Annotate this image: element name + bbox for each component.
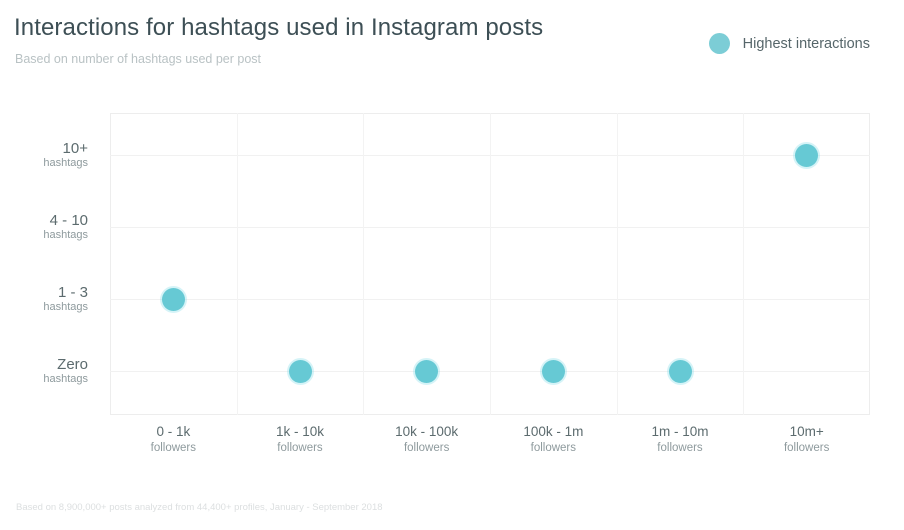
chart-legend: Highest interactions	[709, 33, 870, 54]
x-axis-tick-label: 0 - 1kfollowers	[151, 424, 196, 455]
y-axis-tick-main: Zero	[43, 356, 88, 373]
data-point-marker[interactable]	[289, 360, 312, 383]
chart-footnote: Based on 8,900,000+ posts analyzed from …	[16, 502, 383, 513]
y-axis-tick-sub: hashtags	[43, 373, 88, 386]
data-point-marker[interactable]	[162, 288, 185, 311]
x-axis-tick-sub: followers	[395, 441, 458, 455]
chart-title: Interactions for hashtags used in Instag…	[14, 14, 543, 42]
y-axis-tick-label: 10+hashtags	[43, 140, 88, 170]
x-axis-tick-main: 10k - 100k	[395, 424, 458, 441]
x-axis-tick-label: 100k - 1mfollowers	[523, 424, 583, 455]
x-axis-tick-label: 10k - 100kfollowers	[395, 424, 458, 455]
y-axis-tick-main: 10+	[43, 140, 88, 157]
y-axis-tick-main: 1 - 3	[43, 284, 88, 301]
y-axis-tick-label: Zerohashtags	[43, 356, 88, 386]
y-axis-tick-sub: hashtags	[43, 301, 88, 314]
x-axis-tick-label: 10m+followers	[784, 424, 829, 455]
x-axis: 0 - 1kfollowers1k - 10kfollowers10k - 10…	[110, 424, 870, 470]
data-point-marker[interactable]	[669, 360, 692, 383]
gridline-vertical	[237, 113, 238, 415]
legend-item-label: Highest interactions	[743, 36, 870, 52]
x-axis-tick-label: 1m - 10mfollowers	[651, 424, 708, 455]
x-axis-tick-sub: followers	[151, 441, 196, 455]
y-axis-tick-sub: hashtags	[43, 229, 88, 242]
y-axis-tick-label: 1 - 3hashtags	[43, 284, 88, 314]
x-axis-tick-sub: followers	[651, 441, 708, 455]
gridline-vertical	[363, 113, 364, 415]
x-axis-tick-main: 1m - 10m	[651, 424, 708, 441]
x-axis-tick-label: 1k - 10kfollowers	[276, 424, 324, 455]
y-axis-tick-main: 4 - 10	[43, 212, 88, 229]
gridline-vertical	[490, 113, 491, 415]
data-point-marker[interactable]	[795, 144, 818, 167]
x-axis-tick-sub: followers	[523, 441, 583, 455]
gridline-vertical	[617, 113, 618, 415]
gridline-vertical	[743, 113, 744, 415]
x-axis-tick-sub: followers	[276, 441, 324, 455]
legend-circle-icon	[709, 33, 730, 54]
chart-subtitle: Based on number of hashtags used per pos…	[15, 52, 261, 66]
x-axis-tick-sub: followers	[784, 441, 829, 455]
y-axis-tick-label: 4 - 10hashtags	[43, 212, 88, 242]
plot-area	[110, 113, 870, 415]
x-axis-tick-main: 1k - 10k	[276, 424, 324, 441]
x-axis-tick-main: 100k - 1m	[523, 424, 583, 441]
x-axis-tick-main: 0 - 1k	[151, 424, 196, 441]
data-point-marker[interactable]	[542, 360, 565, 383]
x-axis-tick-main: 10m+	[784, 424, 829, 441]
y-axis-tick-sub: hashtags	[43, 157, 88, 170]
y-axis: Zerohashtags1 - 3hashtags4 - 10hashtags1…	[0, 113, 100, 415]
data-point-marker[interactable]	[415, 360, 438, 383]
